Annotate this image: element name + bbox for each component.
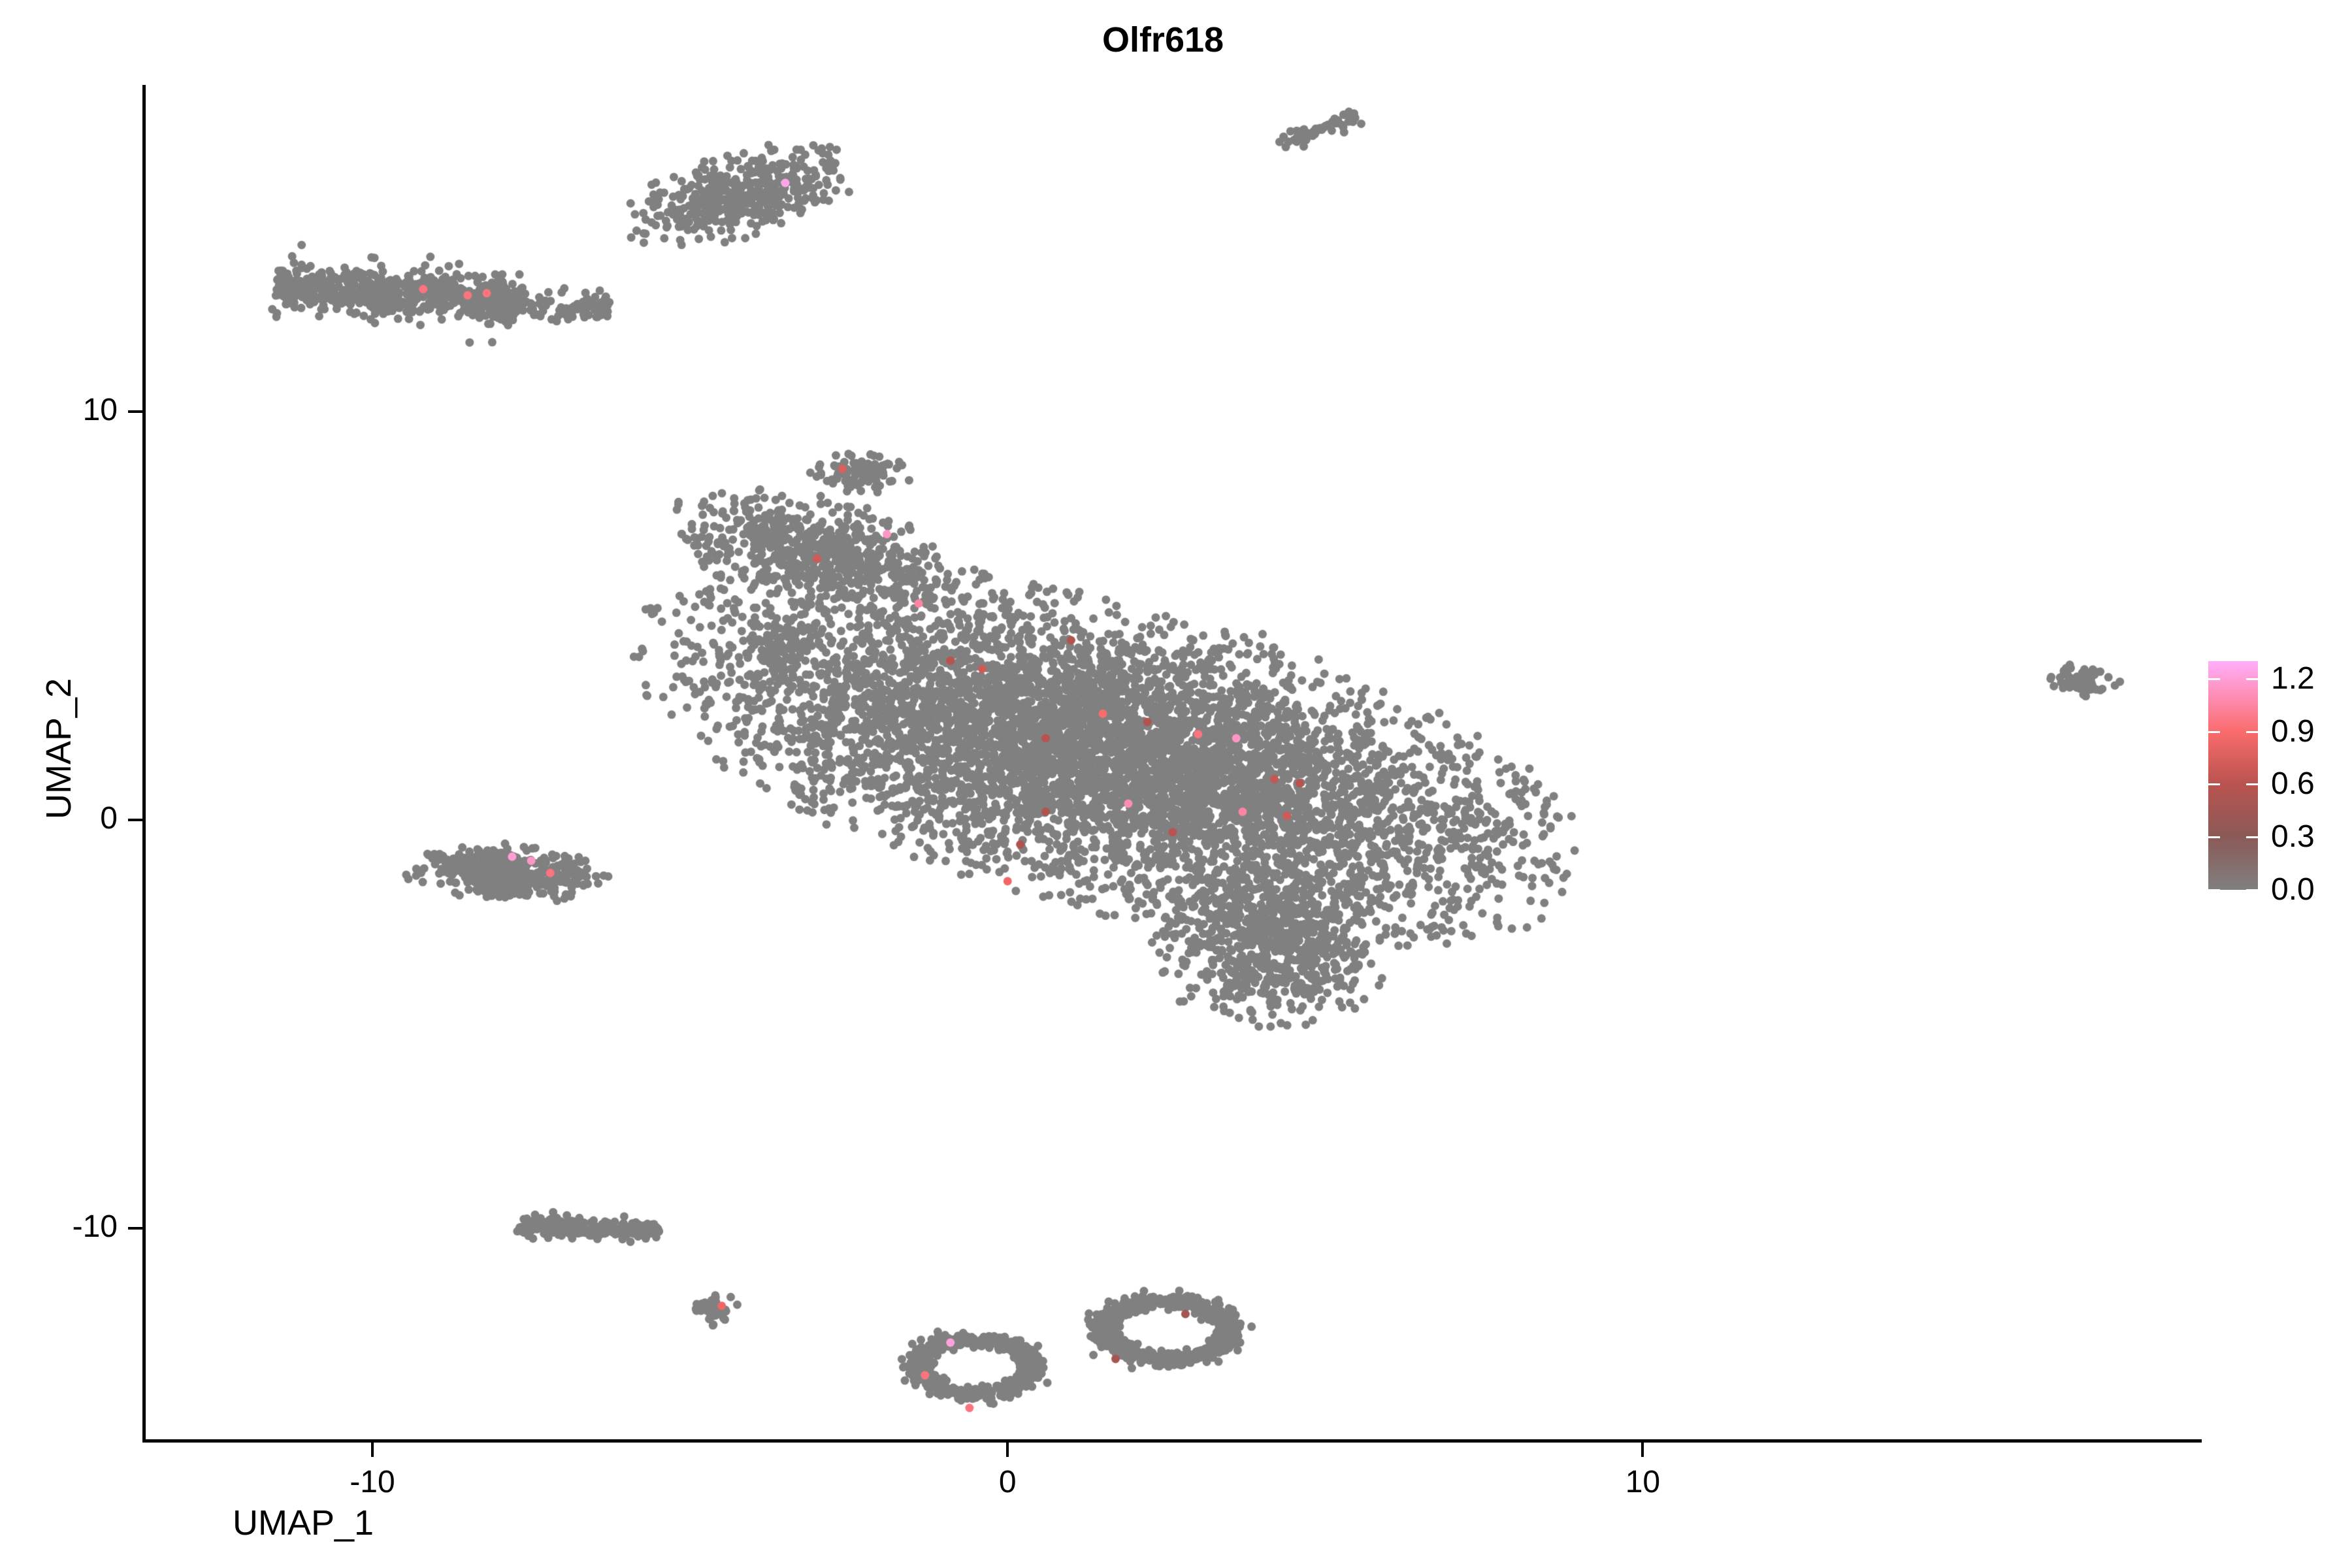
x-tick-mark [371, 1443, 374, 1457]
color-legend-tick-label: 1.2 [2271, 663, 2315, 694]
x-axis-line [142, 1439, 2202, 1443]
y-tick-mark [128, 410, 142, 413]
x-tick-label: -10 [274, 1464, 470, 1500]
y-axis-line [142, 85, 146, 1443]
color-legend-tick-mark [2208, 836, 2258, 838]
color-legend-tick-mark [2208, 783, 2258, 785]
color-legend-tick-label: 0.6 [2271, 768, 2315, 800]
color-legend-tick-mark [2208, 889, 2258, 891]
color-legend-tick-mark [2208, 678, 2258, 680]
color-legend-tick-mark [2208, 731, 2258, 733]
color-legend-tick-label: 0.3 [2271, 821, 2315, 853]
x-tick-mark [1006, 1443, 1009, 1457]
color-legend-tick-label: 0.0 [2271, 874, 2315, 906]
page-title: Olfr618 [0, 20, 2339, 60]
y-axis-label: UMAP_2 [39, 651, 79, 847]
color-legend-gradient-bar [2208, 661, 2258, 890]
x-tick-label: 0 [909, 1464, 1105, 1500]
plot-panel [144, 85, 2202, 1441]
color-legend-tick-label: 0.9 [2271, 716, 2315, 747]
y-tick-label: -10 [0, 1209, 118, 1245]
y-tick-mark [128, 1227, 142, 1230]
scatter-plot-canvas [144, 85, 2202, 1441]
umap-feature-plot: Olfr618 100-10 -10010 UMAP_1 UMAP_2 1.20… [0, 0, 2352, 1568]
color-legend: 1.20.90.60.30.0 [2208, 661, 2332, 890]
y-tick-label: 10 [0, 392, 118, 428]
y-tick-mark [128, 819, 142, 821]
x-tick-mark [1641, 1443, 1644, 1457]
x-tick-label: 10 [1544, 1464, 1740, 1500]
x-axis-label: UMAP_1 [0, 1503, 1333, 1543]
